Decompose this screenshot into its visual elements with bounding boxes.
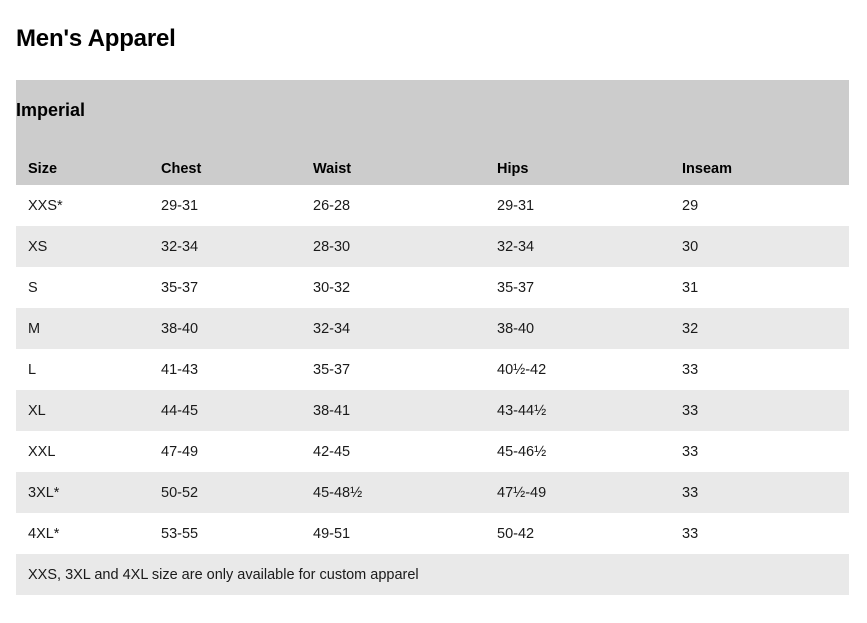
cell-hips: 32-34 [485, 226, 670, 267]
cell-inseam: 33 [670, 431, 849, 472]
cell-size: XL [16, 390, 149, 431]
cell-hips: 47½-49 [485, 472, 670, 513]
cell-size: L [16, 349, 149, 390]
table-row: L 41-43 35-37 40½-42 33 [16, 349, 849, 390]
cell-chest: 47-49 [149, 431, 301, 472]
cell-hips: 45-46½ [485, 431, 670, 472]
cell-hips: 50-42 [485, 513, 670, 554]
column-header-waist: Waist [301, 140, 485, 185]
cell-chest: 41-43 [149, 349, 301, 390]
table-row: XXS* 29-31 26-28 29-31 29 [16, 185, 849, 226]
table-row: XXL 47-49 42-45 45-46½ 33 [16, 431, 849, 472]
cell-inseam: 33 [670, 349, 849, 390]
cell-waist: 38-41 [301, 390, 485, 431]
cell-waist: 28-30 [301, 226, 485, 267]
cell-waist: 35-37 [301, 349, 485, 390]
table-footnote-row: XXS, 3XL and 4XL size are only available… [16, 554, 849, 595]
table-footnote: XXS, 3XL and 4XL size are only available… [16, 554, 849, 595]
column-header-inseam: Inseam [670, 140, 849, 185]
cell-inseam: 32 [670, 308, 849, 349]
table-row: XL 44-45 38-41 43-44½ 33 [16, 390, 849, 431]
cell-waist: 30-32 [301, 267, 485, 308]
cell-chest: 44-45 [149, 390, 301, 431]
table-row: S 35-37 30-32 35-37 31 [16, 267, 849, 308]
cell-inseam: 33 [670, 472, 849, 513]
cell-chest: 38-40 [149, 308, 301, 349]
cell-hips: 35-37 [485, 267, 670, 308]
cell-size: 3XL* [16, 472, 149, 513]
cell-chest: 53-55 [149, 513, 301, 554]
table-row: 4XL* 53-55 49-51 50-42 33 [16, 513, 849, 554]
cell-inseam: 29 [670, 185, 849, 226]
cell-size: M [16, 308, 149, 349]
size-chart-table: Imperial Size Chest Waist Hips Inseam XX… [16, 80, 849, 595]
cell-hips: 38-40 [485, 308, 670, 349]
cell-waist: 49-51 [301, 513, 485, 554]
cell-size: XXL [16, 431, 149, 472]
cell-hips: 40½-42 [485, 349, 670, 390]
cell-chest: 35-37 [149, 267, 301, 308]
cell-chest: 50-52 [149, 472, 301, 513]
column-header-hips: Hips [485, 140, 670, 185]
table-caption-row: Imperial [16, 80, 849, 140]
cell-waist: 45-48½ [301, 472, 485, 513]
cell-size: S [16, 267, 149, 308]
table-row: M 38-40 32-34 38-40 32 [16, 308, 849, 349]
table-row: XS 32-34 28-30 32-34 30 [16, 226, 849, 267]
cell-inseam: 33 [670, 390, 849, 431]
cell-waist: 32-34 [301, 308, 485, 349]
cell-inseam: 33 [670, 513, 849, 554]
cell-hips: 43-44½ [485, 390, 670, 431]
page-title: Men's Apparel [16, 22, 176, 56]
cell-chest: 29-31 [149, 185, 301, 226]
cell-chest: 32-34 [149, 226, 301, 267]
table-caption-cell: Imperial [16, 80, 849, 140]
page-root: Men's Apparel Imperial Size Chest Waist … [0, 0, 867, 623]
table-header-row: Size Chest Waist Hips Inseam [16, 140, 849, 185]
cell-waist: 42-45 [301, 431, 485, 472]
cell-size: XS [16, 226, 149, 267]
cell-inseam: 31 [670, 267, 849, 308]
cell-waist: 26-28 [301, 185, 485, 226]
cell-hips: 29-31 [485, 185, 670, 226]
unit-system-label: Imperial [16, 100, 85, 120]
column-header-size: Size [16, 140, 149, 185]
cell-size: XXS* [16, 185, 149, 226]
column-header-chest: Chest [149, 140, 301, 185]
table-row: 3XL* 50-52 45-48½ 47½-49 33 [16, 472, 849, 513]
cell-inseam: 30 [670, 226, 849, 267]
cell-size: 4XL* [16, 513, 149, 554]
